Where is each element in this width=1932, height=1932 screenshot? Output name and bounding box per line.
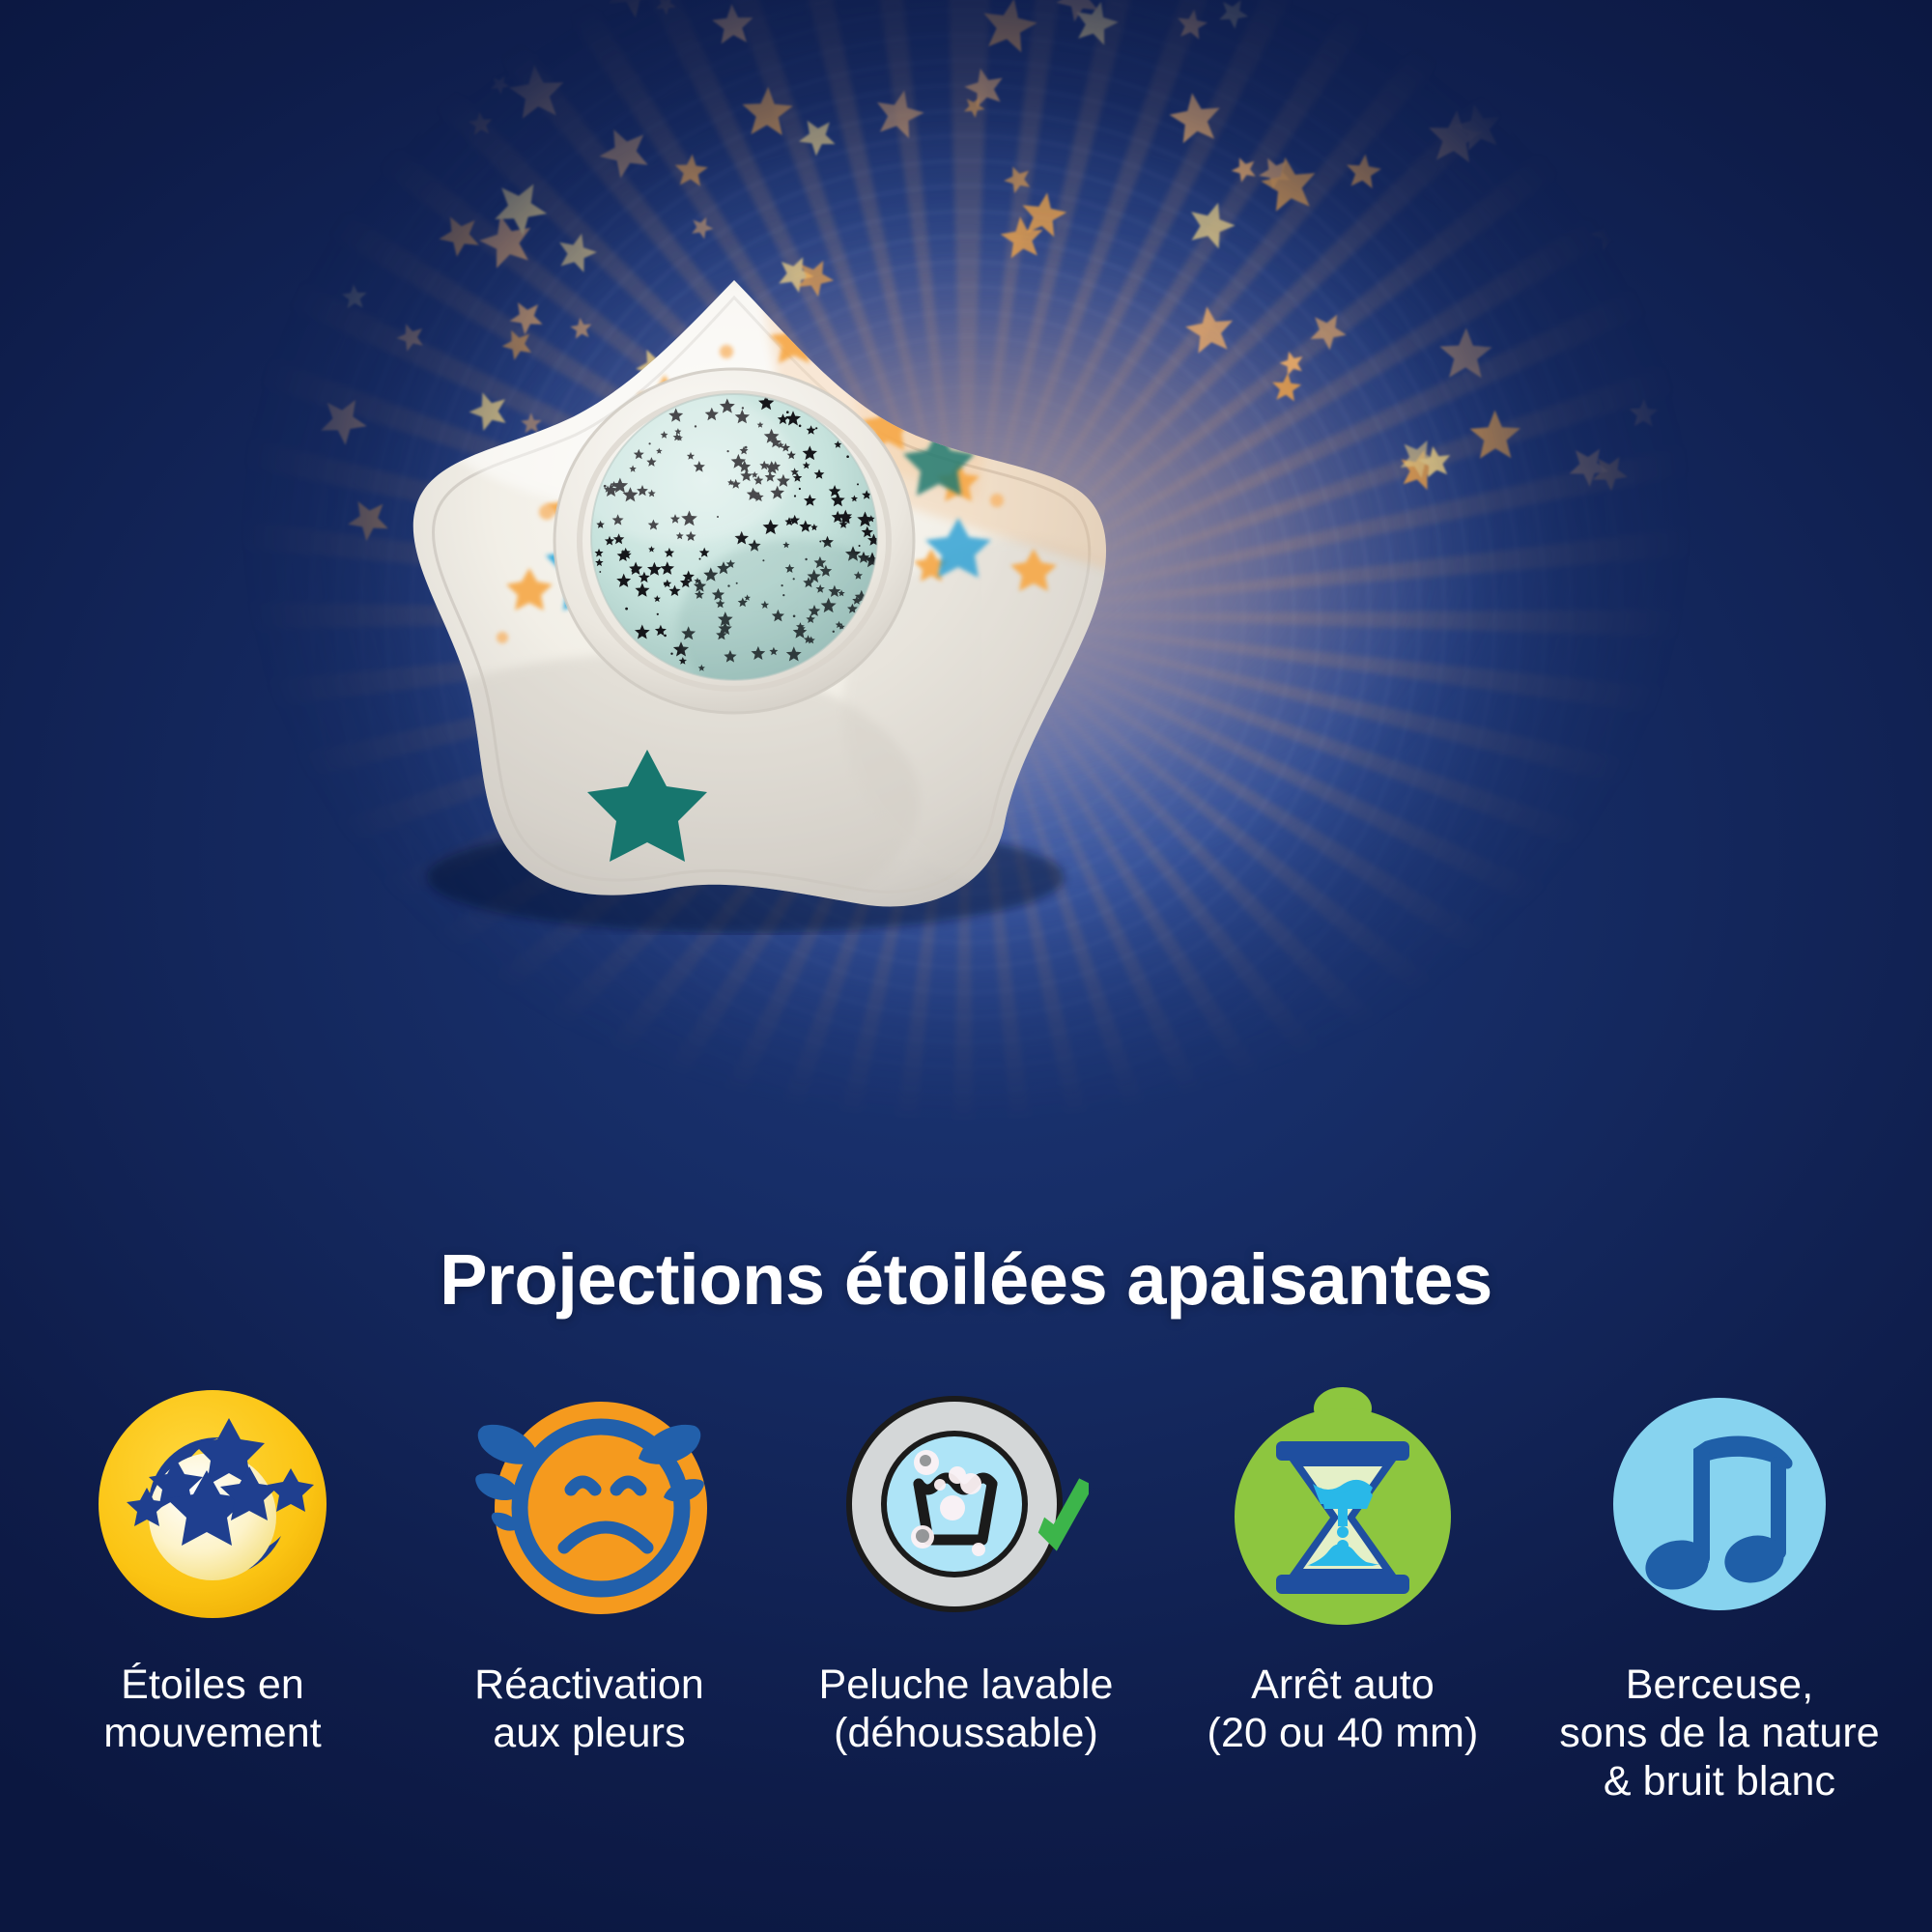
dome-pinhole-star: [657, 613, 659, 615]
projected-star: [1591, 217, 1623, 250]
projected-star: [187, 432, 213, 459]
projected-star: [268, 163, 299, 195]
projected-star: [1610, 83, 1664, 136]
dome-pinhole-star: [815, 427, 817, 429]
feature-item-auto-off[interactable]: Arrêt auto (20 ou 40 mm): [1169, 1381, 1517, 1758]
projected-star: [1178, 10, 1207, 40]
projected-star: [182, 139, 229, 188]
feature-item-washable-plush[interactable]: Peluche lavable (déhoussable): [792, 1381, 1140, 1758]
dome-pinhole-star: [799, 425, 802, 428]
plush-star-projector: [340, 259, 1132, 935]
projected-star: [1170, 93, 1220, 143]
projected-star: [1593, 457, 1628, 492]
music-note-icon: [1597, 1381, 1842, 1627]
projected-star: [599, 129, 647, 179]
projected-star: [1347, 155, 1381, 189]
feature-label: Berceuse, sons de la nature & bruit blan…: [1559, 1662, 1880, 1806]
projected-star: [235, 406, 254, 425]
dome-pinhole-star: [846, 455, 849, 458]
feature-label: Réactivation aux pleurs: [474, 1662, 704, 1758]
feature-label: Arrêt auto (20 ou 40 mm): [1207, 1662, 1479, 1758]
dome-pinhole-star: [625, 608, 628, 611]
feature-label: Peluche lavable (déhoussable): [818, 1662, 1113, 1758]
projected-star: [509, 65, 563, 118]
feature-item-stars-in-motion[interactable]: Étoiles en mouvement: [39, 1381, 386, 1758]
projected-star: [656, 0, 676, 15]
projected-star: [266, 109, 294, 138]
projected-star: [742, 87, 792, 135]
feature-label: Étoiles en mouvement: [103, 1662, 322, 1758]
dome-pinhole-star: [670, 653, 672, 655]
dome-pinhole-star: [859, 545, 861, 547]
washable-tub-check-icon: [843, 1381, 1089, 1627]
projected-star: [308, 180, 331, 204]
projected-star: [293, 69, 336, 113]
dome-pinhole-star: [599, 571, 601, 573]
feature-item-cry-reactivation[interactable]: Réactivation aux pleurs: [415, 1381, 763, 1758]
projected-star: [1639, 188, 1668, 217]
dome-pinhole-star: [786, 411, 789, 413]
projected-star: [1570, 449, 1609, 488]
projected-star: [439, 216, 479, 257]
projected-star: [469, 112, 493, 135]
projected-star: [193, 90, 226, 123]
dome-pinhole-star: [794, 495, 796, 497]
projected-star: [983, 0, 1037, 52]
projected-star: [307, 0, 327, 2]
dome-pinhole-star: [857, 483, 859, 485]
feature-list: Étoiles en mouvement R: [39, 1381, 1893, 1806]
feature-item-sounds[interactable]: Berceuse, sons de la nature & bruit blan…: [1546, 1381, 1893, 1806]
dome-pinhole-star: [699, 558, 701, 560]
product-feature-banner: Projections étoilées apaisantes: [0, 0, 1932, 1932]
projected-star: [1630, 399, 1659, 427]
projected-star: [491, 76, 509, 95]
projected-star: [1219, 0, 1248, 29]
hourglass-timer-icon: [1220, 1381, 1465, 1627]
projected-star: [608, 0, 657, 17]
projected-star: [325, 0, 367, 14]
page-title: Projections étoilées apaisantes: [0, 1238, 1932, 1321]
crying-face-icon: [467, 1381, 712, 1627]
projected-star: [384, 16, 409, 41]
dome-pinhole-star: [799, 488, 801, 490]
projector-dome: [554, 369, 914, 713]
projected-star: [712, 4, 753, 43]
moon-stars-icon: [90, 1381, 335, 1627]
dome-pinhole-star: [664, 635, 667, 638]
dome-pinhole-star: [664, 583, 666, 585]
